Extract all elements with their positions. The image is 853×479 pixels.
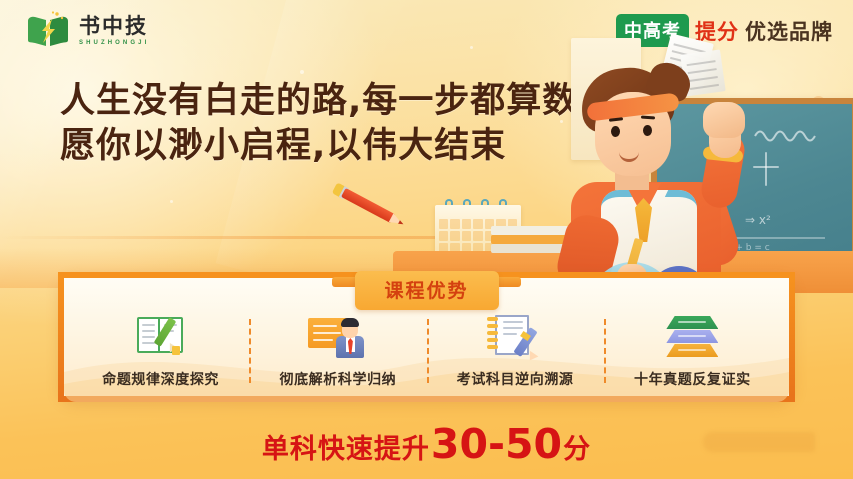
feature-item[interactable]: 十年真题反复证实 — [604, 313, 781, 389]
advantage-feature-list: 命题规律深度探究 彻底解析科学归纳 — [58, 300, 795, 402]
notepad-pencil-icon — [485, 313, 545, 359]
feature-label: 十年真题反复证实 — [634, 369, 751, 389]
promotional-banner: 书中技 SHUZHONGJI 中高考 提分 优选品牌 人生没有白走的路,每一步都… — [0, 0, 853, 479]
stacked-layers-icon — [662, 313, 722, 359]
cta-prefix: 单科快速提升 — [262, 427, 430, 466]
book-pencil-icon — [131, 313, 191, 359]
watermark — [703, 432, 815, 452]
brand-logo[interactable]: 书中技 SHUZHONGJI — [26, 11, 149, 51]
headline-line-2: 愿你以渺小启程,以伟大结束 — [60, 124, 578, 169]
logo-pinyin: SHUZHONGJI — [79, 40, 149, 46]
feature-label: 考试科目逆向溯源 — [457, 369, 574, 389]
advantage-title: 课程优势 — [384, 280, 468, 302]
eye — [611, 126, 620, 137]
logo-book-icon — [26, 11, 70, 51]
eye — [643, 125, 652, 136]
cta-number: 30-50 — [431, 420, 562, 468]
logo-name: 书中技 — [79, 16, 149, 37]
feature-item[interactable]: 考试科目逆向溯源 — [427, 313, 604, 389]
teacher-board-icon — [308, 313, 368, 359]
feature-label: 命题规律深度探究 — [102, 369, 219, 389]
floating-pencil-icon — [331, 181, 407, 232]
feature-label: 彻底解析科学归纳 — [279, 369, 396, 389]
headline-line-1: 人生没有白走的路,每一步都算数 — [60, 79, 578, 124]
student-character — [553, 40, 813, 290]
feature-item[interactable]: 命题规律深度探究 — [72, 313, 249, 389]
speck — [170, 200, 173, 203]
cta-suffix: 分 — [563, 427, 591, 466]
feature-item[interactable]: 彻底解析科学归纳 — [249, 313, 426, 389]
student-illustration: ∫ e^(x) ⇒ x² a + b = c — [553, 40, 853, 290]
headline: 人生没有白走的路,每一步都算数 愿你以渺小启程,以伟大结束 — [60, 79, 578, 169]
fist — [703, 102, 745, 138]
speck — [470, 46, 473, 49]
speck — [300, 70, 304, 74]
